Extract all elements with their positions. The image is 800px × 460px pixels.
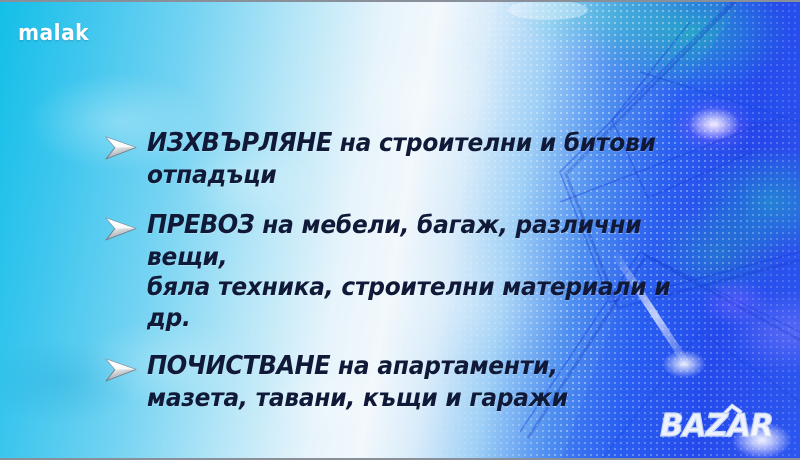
list-item: ИЗХВЪРЛЯНЕ на строителни и битови отпадъ…: [104, 128, 744, 190]
arrow-bullet-icon: [104, 215, 138, 243]
list-item: ПРЕВОЗ на мебели, багаж, различни вещи, …: [104, 210, 744, 333]
site-watermark: malak: [18, 23, 89, 45]
arrow-bullet-icon: [104, 356, 138, 384]
bazar-logo-watermark: BAZAR: [656, 400, 788, 446]
services-list: ИЗХВЪРЛЯНЕ на строителни и битови отпадъ…: [104, 128, 744, 414]
service-keyword: ПОЧИСТВАНЕ: [147, 351, 330, 381]
service-text: ИЗХВЪРЛЯНЕ на строителни и битови отпадъ…: [147, 128, 702, 190]
list-item: ПОЧИСТВАНЕ на апартаменти, мазета, таван…: [104, 351, 744, 413]
advertisement-banner: malak ИЗХВЪРЛЯНЕ на строителни и битови …: [0, 0, 800, 460]
service-keyword: ПРЕВОЗ: [147, 210, 254, 240]
service-keyword: ИЗХВЪРЛЯНЕ: [147, 128, 332, 158]
arrow-bullet-icon: [104, 134, 138, 162]
service-text: ПОЧИСТВАНЕ на апартаменти, мазета, таван…: [147, 351, 702, 413]
bazar-logo-text: BAZAR: [660, 408, 773, 444]
service-text: ПРЕВОЗ на мебели, багаж, различни вещи, …: [147, 210, 702, 333]
